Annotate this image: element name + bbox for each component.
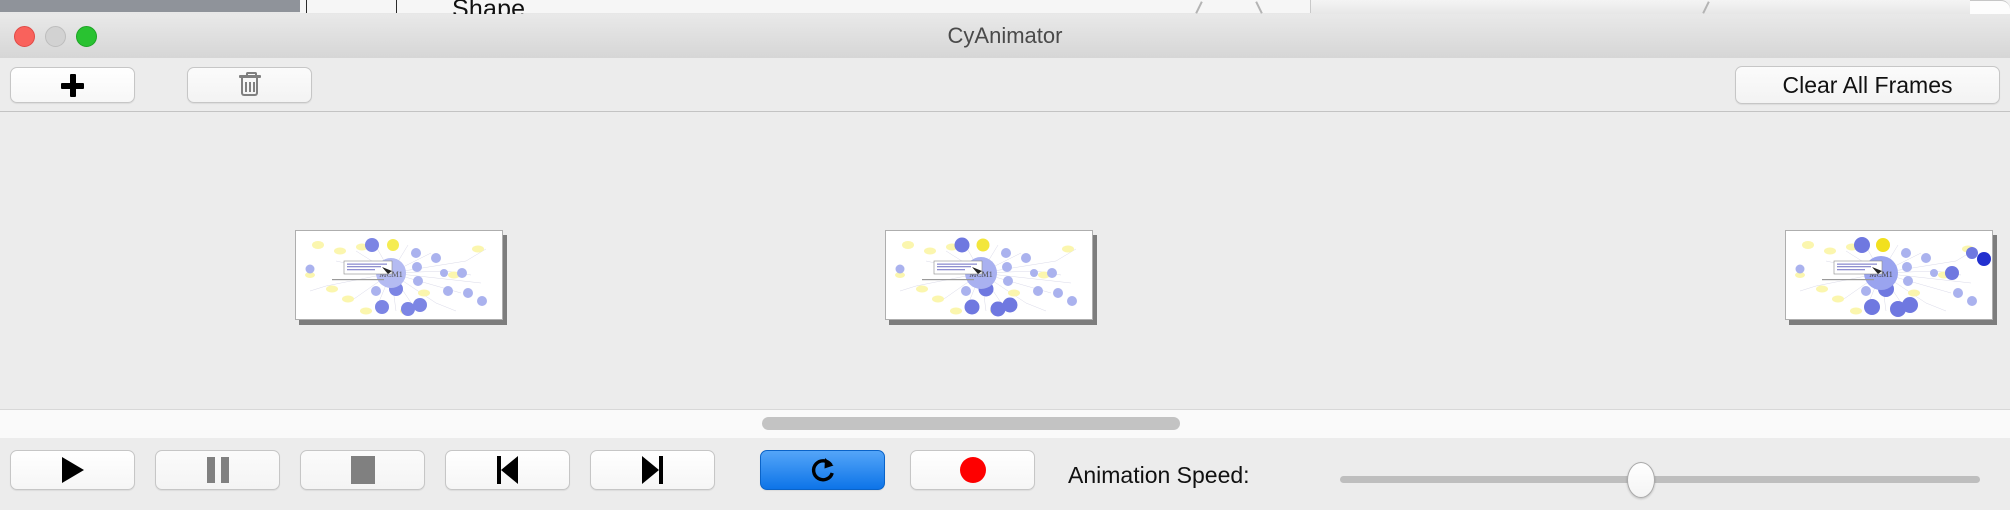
pause-icon bbox=[207, 457, 229, 483]
background-window-dark-band bbox=[0, 0, 300, 12]
record-icon bbox=[960, 457, 986, 483]
background-window-corner bbox=[1970, 0, 2010, 14]
timeline-frame-thumbnail[interactable]: MCM1 bbox=[295, 230, 507, 323]
next-frame-button[interactable] bbox=[590, 450, 715, 490]
background-cell bbox=[1110, 0, 1311, 13]
plus-icon bbox=[61, 74, 84, 97]
delete-frame-button[interactable] bbox=[187, 67, 312, 103]
timeline-panel[interactable]: MCM1 bbox=[0, 112, 2010, 409]
timeline-frame-thumbnail[interactable]: MCM1 bbox=[1785, 230, 1997, 323]
thumbnail-network-image: MCM1 bbox=[1785, 230, 1993, 320]
slider-track[interactable] bbox=[1340, 476, 1980, 483]
stop-icon bbox=[351, 456, 375, 484]
timeline-scrollbar[interactable] bbox=[0, 409, 2010, 439]
previous-frame-button[interactable] bbox=[445, 450, 570, 490]
background-cell bbox=[660, 0, 791, 13]
thumbnail-network-image: MCM1 bbox=[295, 230, 503, 320]
background-window-strip: Shape bbox=[0, 0, 2010, 15]
play-icon bbox=[62, 457, 84, 483]
clear-all-frames-label: Clear All Frames bbox=[1783, 72, 1953, 99]
pause-button[interactable] bbox=[155, 450, 280, 490]
loop-icon bbox=[808, 455, 838, 485]
transport-bar: Animation Speed: bbox=[0, 438, 2010, 510]
animation-speed-label: Animation Speed: bbox=[1068, 462, 1250, 489]
background-mark bbox=[1702, 1, 1709, 14]
window-title: CyAnimator bbox=[0, 14, 2010, 58]
background-window-label: Shape bbox=[452, 0, 525, 15]
background-divider bbox=[396, 0, 397, 13]
stop-button[interactable] bbox=[300, 450, 425, 490]
title-bar: CyAnimator bbox=[0, 14, 2010, 59]
trash-icon bbox=[239, 72, 261, 98]
cyanimator-window: Shape CyAnimator Clear All Frames bbox=[0, 0, 2010, 510]
background-cell bbox=[790, 0, 931, 13]
slider-thumb[interactable] bbox=[1627, 462, 1655, 498]
background-divider bbox=[306, 0, 307, 13]
record-button[interactable] bbox=[910, 450, 1035, 490]
background-cell bbox=[930, 0, 1111, 13]
background-cell bbox=[550, 0, 661, 13]
add-frame-button[interactable] bbox=[10, 67, 135, 103]
scrollbar-thumb[interactable] bbox=[762, 417, 1180, 430]
timeline-frame-thumbnail[interactable]: MCM1 bbox=[885, 230, 1097, 323]
thumbnail-network-image: MCM1 bbox=[885, 230, 1093, 320]
background-cell bbox=[300, 0, 421, 13]
skip-forward-icon bbox=[642, 456, 663, 484]
play-button[interactable] bbox=[10, 450, 135, 490]
loop-button[interactable] bbox=[760, 450, 885, 490]
clear-all-frames-button[interactable]: Clear All Frames bbox=[1735, 66, 2000, 104]
skip-back-icon bbox=[497, 456, 518, 484]
toolbar: Clear All Frames bbox=[0, 58, 2010, 112]
animation-speed-slider[interactable] bbox=[1340, 476, 1980, 484]
